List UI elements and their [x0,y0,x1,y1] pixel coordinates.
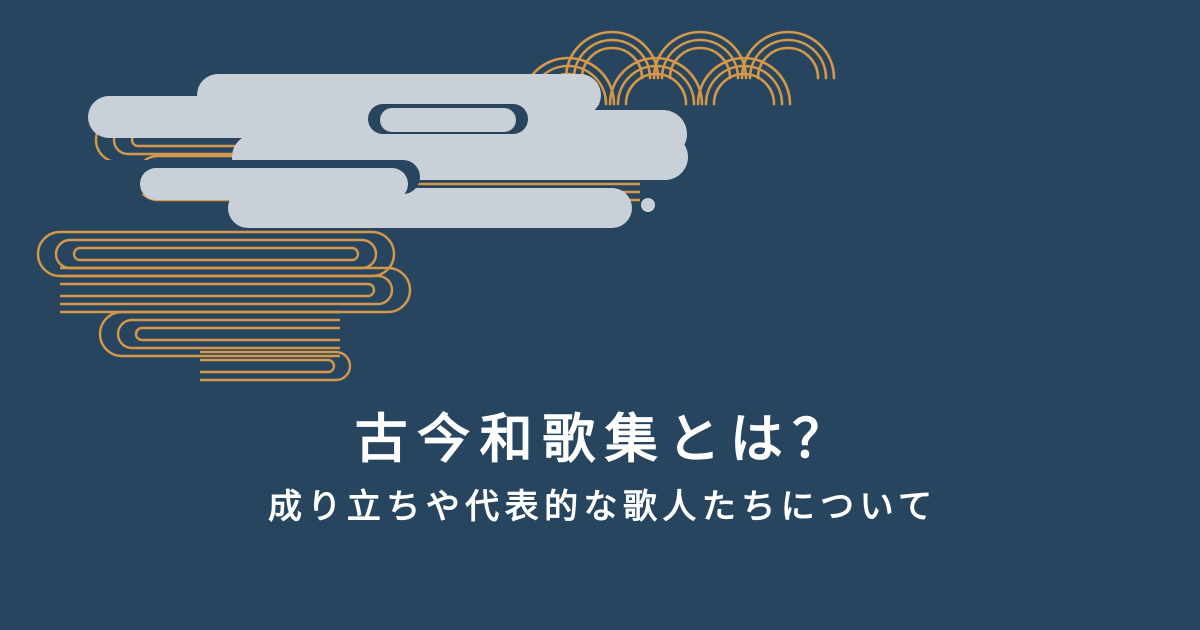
wave-arc-motif [742,32,834,78]
cloud-bar [255,110,687,158]
cloud-notch [0,160,420,194]
cloud-bar [88,96,388,138]
cloud-notch [368,104,528,134]
cloud-bar [197,74,601,116]
gold-cloud-bar [60,268,410,312]
cloud-negative-space-group [0,104,528,194]
solid-cloud-group [88,74,688,228]
gold-cloud-bar [96,118,430,162]
cloud-bar [380,108,516,132]
seigaiha-wave-group [522,32,834,104]
page-title: 古今和歌集とは？ [0,408,1200,473]
cloud-bar [232,134,688,180]
wave-arc-motif [610,58,702,104]
wave-arc-motif [522,58,614,104]
wave-arc-motif [566,32,658,78]
gold-cloud-bars-back [96,118,640,200]
title-block: 古今和歌集とは？ 成り立ちや代表的な歌人たちについて [0,408,1200,529]
japanese-cloud-wave-ornament [0,0,1200,630]
gold-cloud-bar [200,352,350,380]
cloud-bar [140,168,408,200]
wave-arc-motif [654,32,746,78]
gold-cloud-bar [38,232,394,276]
cloud-dot [641,198,655,212]
og-image-canvas: 古今和歌集とは？ 成り立ちや代表的な歌人たちについて [0,0,1200,630]
solid-cloud-group-front [140,108,516,200]
gold-cloud-bars-front [38,232,410,380]
gold-cloud-bar [100,312,340,356]
cloud-bar [228,188,632,228]
page-subtitle: 成り立ちや代表的な歌人たちについて [0,487,1200,530]
wave-arc-motif [698,58,790,104]
gold-cloud-bar [136,156,640,200]
